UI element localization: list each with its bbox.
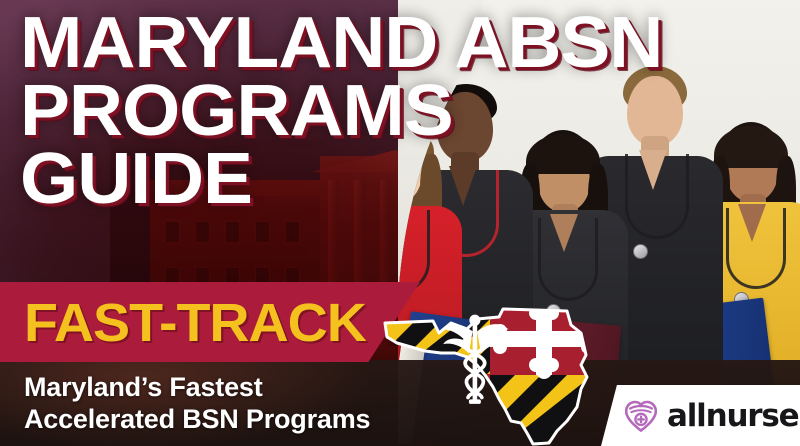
maryland-absn-programs-banner: MARYLAND ABSN PROGRAMS GUIDE FAST-TRACK … <box>0 0 800 446</box>
allnurses-logo[interactable]: allnurses <box>601 385 800 446</box>
maryland-state-flag-shape <box>381 303 599 446</box>
headline-line-1: MARYLAND ABSN <box>20 10 665 76</box>
subtitle: Maryland’s Fastest Accelerated BSN Progr… <box>24 372 424 436</box>
allnurses-wordmark: allnurses <box>667 398 800 434</box>
fast-track-label: FAST-TRACK <box>24 296 366 350</box>
subtitle-line-1: Maryland’s Fastest <box>24 372 424 404</box>
headline-line-2: PROGRAMS <box>20 78 665 144</box>
heart-stethoscope-cross-icon <box>623 399 659 433</box>
page-title: MARYLAND ABSN PROGRAMS GUIDE <box>20 10 640 213</box>
headline-line-3: GUIDE <box>20 146 665 212</box>
subtitle-line-2: Accelerated BSN Programs <box>24 404 424 436</box>
